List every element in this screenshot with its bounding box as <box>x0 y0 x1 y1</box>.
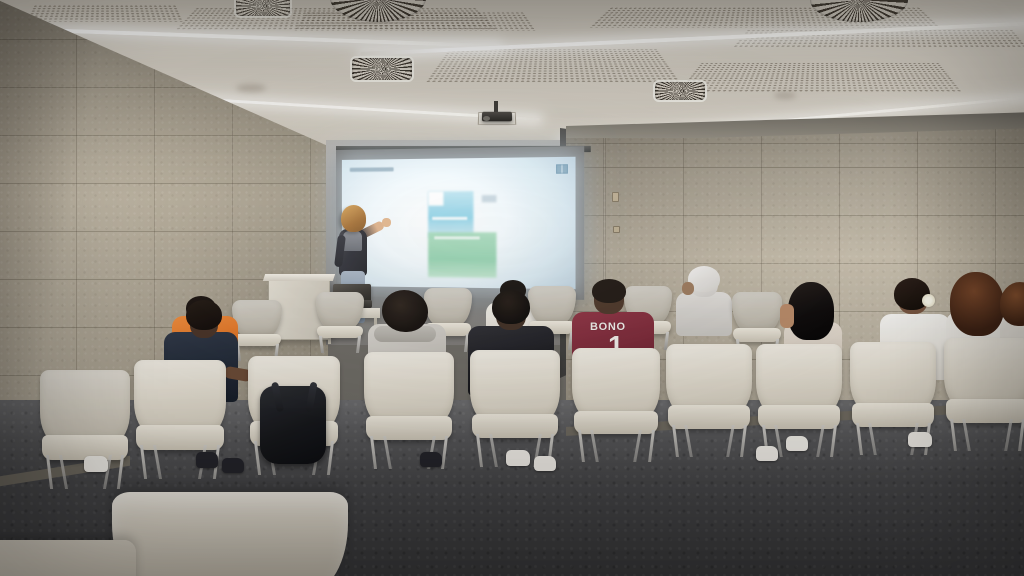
attendee-hair <box>1000 282 1024 326</box>
ceiling-perforation-patch <box>425 49 682 83</box>
classroom-presentation-scene: BONO 1 <box>0 0 1024 576</box>
shoe <box>908 432 932 447</box>
ceiling-perforation-patch <box>293 12 537 31</box>
attendee-arm <box>780 304 794 328</box>
attendee-hair <box>186 300 222 330</box>
slide-shape-notch <box>428 191 443 205</box>
chair[interactable] <box>572 348 660 456</box>
foreground-chair-secondary[interactable] <box>0 540 136 576</box>
slide-logo-icon <box>556 164 568 174</box>
slide-shape-divider <box>432 217 467 220</box>
shoe <box>222 458 244 473</box>
ceiling-perforation-patch <box>26 5 184 22</box>
chair[interactable] <box>756 344 842 450</box>
shoe <box>786 436 808 451</box>
slide-title-text <box>350 167 394 172</box>
shoe <box>756 446 778 461</box>
slide-green-box-text <box>434 236 479 239</box>
attendee-hair <box>592 279 626 303</box>
shoe <box>534 456 556 471</box>
slide-ghost-label <box>482 195 497 202</box>
air-diffuser-icon <box>655 82 705 100</box>
presenter-hand <box>382 218 391 227</box>
shoe <box>506 450 530 466</box>
attendee-hair <box>382 290 428 332</box>
foreground-empty-chair[interactable] <box>112 492 348 576</box>
chair[interactable] <box>470 350 560 460</box>
chair[interactable] <box>944 338 1024 444</box>
attendee-hijab <box>676 268 732 336</box>
wall-sign <box>612 192 619 202</box>
backpack <box>260 386 326 464</box>
projector-lens-icon <box>483 116 490 121</box>
shoe <box>84 456 108 472</box>
ceiling-perforation-patch <box>677 63 963 92</box>
attendee-top <box>676 292 732 336</box>
ceiling-smudge <box>236 84 266 92</box>
air-diffuser-icon <box>236 0 290 16</box>
wall-sign <box>613 226 620 233</box>
attendee-hair <box>492 290 530 324</box>
chair[interactable] <box>316 292 364 350</box>
chair[interactable] <box>232 300 282 358</box>
chair[interactable] <box>666 344 752 450</box>
presenter-hair <box>341 205 366 232</box>
lectern-top <box>263 274 335 281</box>
attendee-face-edge <box>682 282 694 295</box>
presenter-shirt <box>343 231 362 251</box>
chair[interactable] <box>364 352 454 462</box>
attendee-hair <box>788 282 834 340</box>
air-diffuser-icon <box>352 58 412 80</box>
flower-hair-clip-icon <box>922 294 935 307</box>
attendee-hair <box>950 272 1004 336</box>
shoe <box>196 452 218 468</box>
shoe <box>420 452 442 467</box>
ceiling-smudge <box>774 92 796 99</box>
